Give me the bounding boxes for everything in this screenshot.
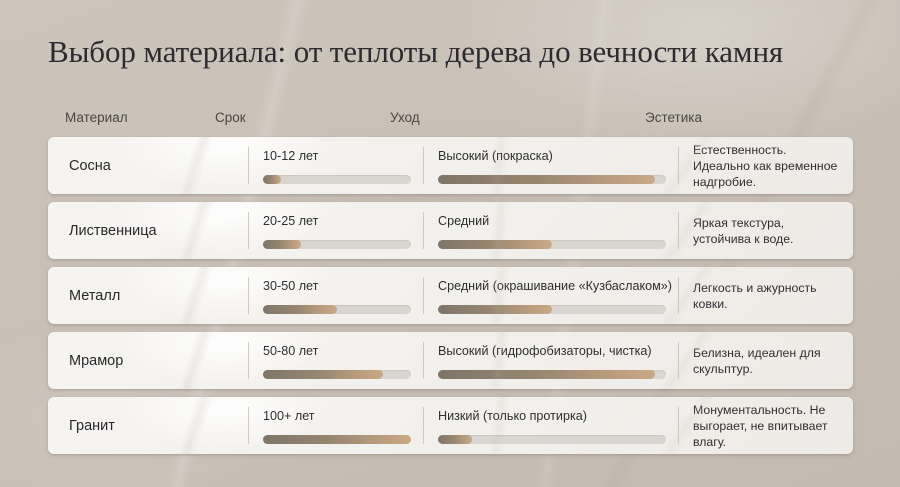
cell-uhod: Высокий (покраска) xyxy=(423,137,678,194)
table-row: Лиственница20-25 летСреднийЯркая текстур… xyxy=(48,202,853,259)
column-header-srok: Срок xyxy=(215,108,246,128)
uhod-label: Средний xyxy=(438,214,678,229)
srok-label: 30-50 лет xyxy=(263,279,423,294)
cell-uhod: Средний (окрашивание «Кузбаслаком») xyxy=(423,267,678,324)
material-name: Металл xyxy=(69,288,120,304)
uhod-bar-fill xyxy=(438,370,655,379)
uhod-bar-fill xyxy=(438,175,655,184)
uhod-bar-track xyxy=(438,175,666,184)
infographic-page: Выбор материала: от теплоты дерева до ве… xyxy=(0,0,900,487)
uhod-bar-track xyxy=(438,305,666,314)
aesthetics-text: Легкость и ажурность ковки. xyxy=(693,280,839,312)
srok-label: 10-12 лет xyxy=(263,149,423,164)
table-row: Металл30-50 летСредний (окрашивание «Куз… xyxy=(48,267,853,324)
srok-bar-fill xyxy=(263,175,281,184)
cell-uhod: Высокий (гидрофобизаторы, чистка) xyxy=(423,332,678,389)
srok-bar-track xyxy=(263,435,411,444)
table-row: Мрамор50-80 летВысокий (гидрофобизаторы,… xyxy=(48,332,853,389)
srok-bar-track xyxy=(263,305,411,314)
table-header: Материал Срок Уход Эстетика xyxy=(0,108,900,128)
uhod-label: Высокий (покраска) xyxy=(438,149,678,164)
material-name: Лиственница xyxy=(69,223,157,239)
cell-srok: 10-12 лет xyxy=(248,137,423,194)
uhod-bar-fill xyxy=(438,305,552,314)
srok-bar-track xyxy=(263,240,411,249)
cell-material: Сосна xyxy=(48,137,248,194)
cell-srok: 100+ лет xyxy=(248,397,423,454)
srok-bar-fill xyxy=(263,240,301,249)
material-name: Гранит xyxy=(69,418,115,434)
uhod-bar-track xyxy=(438,435,666,444)
column-header-uhod: Уход xyxy=(390,108,420,128)
cell-uhod: Низкий (только протирка) xyxy=(423,397,678,454)
uhod-bar-fill xyxy=(438,435,472,444)
uhod-label: Средний (окрашивание «Кузбаслаком») xyxy=(438,279,678,294)
cell-material: Гранит xyxy=(48,397,248,454)
uhod-bar-track xyxy=(438,370,666,379)
aesthetics-text: Яркая текстура, устойчива к воде. xyxy=(693,215,839,247)
srok-bar-fill xyxy=(263,435,411,444)
aesthetics-text: Монументальность. Не выгорает, не впитыв… xyxy=(693,402,839,450)
page-title: Выбор материала: от теплоты дерева до ве… xyxy=(48,33,783,71)
srok-label: 100+ лет xyxy=(263,409,423,424)
cell-srok: 30-50 лет xyxy=(248,267,423,324)
cell-aesthetics: Белизна, идеален для скульптур. xyxy=(678,332,853,389)
cell-aesthetics: Яркая текстура, устойчива к воде. xyxy=(678,202,853,259)
table-row: Гранит100+ летНизкий (только протирка)Мо… xyxy=(48,397,853,454)
aesthetics-text: Естественность. Идеально как временное н… xyxy=(693,142,839,190)
aesthetics-text: Белизна, идеален для скульптур. xyxy=(693,345,839,377)
table-row: Сосна10-12 летВысокий (покраска)Естестве… xyxy=(48,137,853,194)
cell-material: Металл xyxy=(48,267,248,324)
srok-bar-track xyxy=(263,370,411,379)
uhod-bar-track xyxy=(438,240,666,249)
uhod-bar-fill xyxy=(438,240,552,249)
material-name: Мрамор xyxy=(69,353,123,369)
cell-aesthetics: Монументальность. Не выгорает, не впитыв… xyxy=(678,397,853,454)
srok-label: 20-25 лет xyxy=(263,214,423,229)
cell-material: Мрамор xyxy=(48,332,248,389)
cell-material: Лиственница xyxy=(48,202,248,259)
uhod-label: Высокий (гидрофобизаторы, чистка) xyxy=(438,344,678,359)
srok-bar-fill xyxy=(263,370,383,379)
cell-srok: 50-80 лет xyxy=(248,332,423,389)
srok-bar-track xyxy=(263,175,411,184)
cell-aesthetics: Легкость и ажурность ковки. xyxy=(678,267,853,324)
column-header-material: Материал xyxy=(65,108,128,128)
cell-srok: 20-25 лет xyxy=(248,202,423,259)
material-name: Сосна xyxy=(69,158,111,174)
uhod-label: Низкий (только протирка) xyxy=(438,409,678,424)
srok-bar-fill xyxy=(263,305,337,314)
srok-label: 50-80 лет xyxy=(263,344,423,359)
cell-uhod: Средний xyxy=(423,202,678,259)
material-comparison-table: Сосна10-12 летВысокий (покраска)Естестве… xyxy=(48,137,853,462)
cell-aesthetics: Естественность. Идеально как временное н… xyxy=(678,137,853,194)
column-header-aesthetics: Эстетика xyxy=(645,108,702,128)
